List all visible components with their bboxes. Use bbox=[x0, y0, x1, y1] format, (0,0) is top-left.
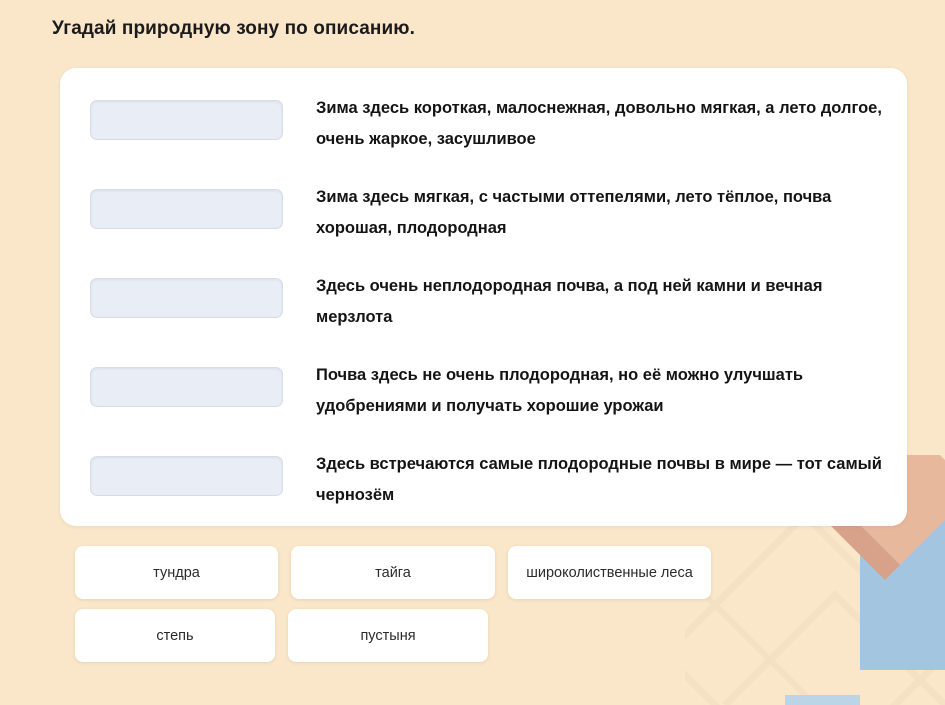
task-card: Зима здесь короткая, малоснежная, доволь… bbox=[60, 68, 907, 526]
answer-options-area: тундра тайга широколиственные леса степь… bbox=[75, 546, 755, 672]
match-rows-list: Зима здесь короткая, малоснежная, доволь… bbox=[60, 84, 907, 533]
option-chip-pustynya[interactable]: пустыня bbox=[288, 609, 488, 662]
match-row: Зима здесь короткая, малоснежная, доволь… bbox=[60, 88, 907, 177]
option-chip-step[interactable]: степь bbox=[75, 609, 275, 662]
description-5: Здесь встречаются самые плодородные почв… bbox=[316, 444, 883, 511]
match-row: Почва здесь не очень плодородная, но её … bbox=[60, 355, 907, 444]
match-row: Здесь очень неплодородная почва, а под н… bbox=[60, 266, 907, 355]
description-2: Зима здесь мягкая, с частыми оттепелями,… bbox=[316, 177, 883, 244]
dropzone-4[interactable] bbox=[90, 367, 283, 407]
option-chip-shirokolistvennye-lesa[interactable]: широколиственные леса bbox=[508, 546, 711, 599]
description-3: Здесь очень неплодородная почва, а под н… bbox=[316, 266, 883, 333]
page-title: Угадай природную зону по описанию. bbox=[52, 18, 415, 40]
option-chip-tayga[interactable]: тайга bbox=[291, 546, 495, 599]
dropzone-3[interactable] bbox=[90, 278, 283, 318]
description-4: Почва здесь не очень плодородная, но её … bbox=[316, 355, 883, 422]
option-chip-tundra[interactable]: тундра bbox=[75, 546, 278, 599]
dropzone-1[interactable] bbox=[90, 100, 283, 140]
dropzone-2[interactable] bbox=[90, 189, 283, 229]
description-1: Зима здесь короткая, малоснежная, доволь… bbox=[316, 88, 883, 155]
match-row: Зима здесь мягкая, с частыми оттепелями,… bbox=[60, 177, 907, 266]
dropzone-5[interactable] bbox=[90, 456, 283, 496]
answer-options-row-1: тундра тайга широколиственные леса bbox=[75, 546, 755, 599]
answer-options-row-2: степь пустыня bbox=[75, 609, 755, 662]
match-row: Здесь встречаются самые плодородные почв… bbox=[60, 444, 907, 533]
